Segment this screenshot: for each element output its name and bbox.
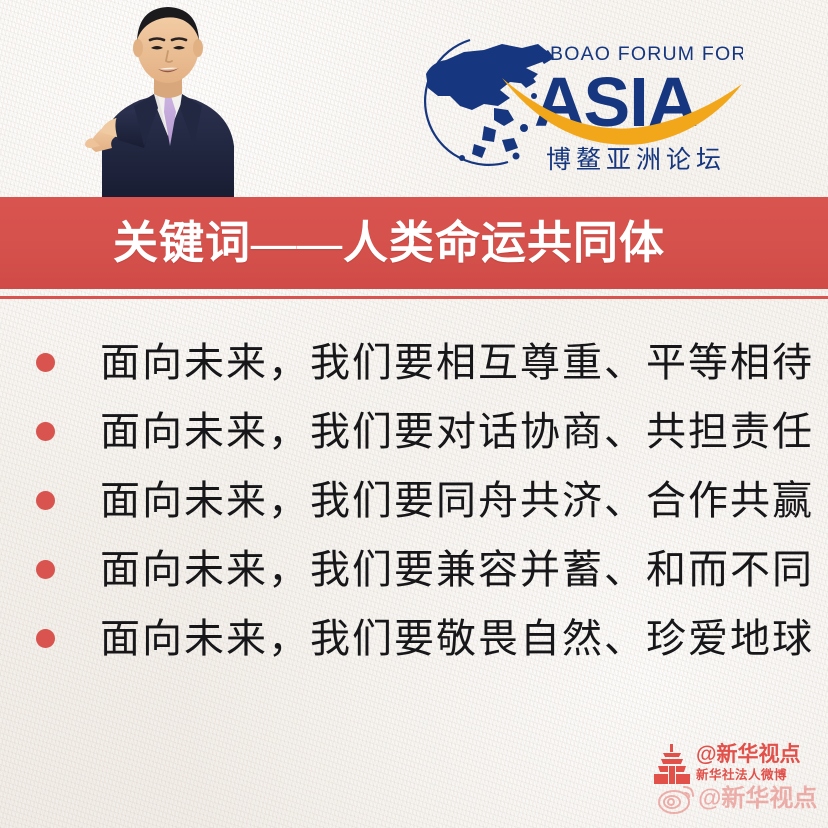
list-item-label: 面向未来，我们要同舟共济、合作共赢 <box>100 478 814 524</box>
bullet-dot-icon <box>36 629 55 648</box>
pagoda-icon <box>650 742 694 786</box>
watermark-text-block: @新华视点 新华社法人微博 <box>696 742 800 782</box>
header-area: BOAO FORUM FOR ASIA 博鳌亚洲论坛 <box>0 0 828 198</box>
list-item-label: 面向未来，我们要敬畏自然、珍爱地球 <box>100 616 814 662</box>
watermark-ghost: @新华视点 <box>656 782 817 816</box>
list-item: 面向未来，我们要兼容并蓄、和而不同 <box>0 537 828 602</box>
watermark: @新华视点 新华社法人微博 @新华视点 <box>650 742 828 828</box>
list-item: 面向未来，我们要对话协商、共担责任 <box>0 399 828 464</box>
logo-english-line1: BOAO FORUM FOR <box>550 43 743 65</box>
list-item: 面向未来，我们要敬畏自然、珍爱地球 <box>0 606 828 671</box>
list-item-label: 面向未来，我们要对话协商、共担责任 <box>100 409 814 455</box>
bullet-dot-icon <box>36 422 55 441</box>
watermark-account-name: @新华视点 <box>696 744 800 765</box>
logo-chinese-label: 博鳌亚洲论坛 <box>546 146 726 174</box>
speaker-portrait <box>82 0 254 198</box>
boao-forum-logo: BOAO FORUM FOR ASIA 博鳌亚洲论坛 <box>398 22 743 174</box>
weibo-eye-icon <box>656 782 696 816</box>
title-banner: 关键词——人类命运共同体 <box>0 197 828 289</box>
list-item: 面向未来，我们要相互尊重、平等相待 <box>0 330 828 395</box>
bullet-dot-icon <box>36 491 55 510</box>
banner-underline-rule <box>0 296 828 299</box>
poster-root: BOAO FORUM FOR ASIA 博鳌亚洲论坛 关键词——人类命运共同体 … <box>0 0 828 828</box>
bullet-dot-icon <box>36 353 55 372</box>
list-item-label: 面向未来，我们要兼容并蓄、和而不同 <box>100 547 814 593</box>
watermark-ghost-label: @新华视点 <box>698 787 817 811</box>
watermark-subtitle: 新华社法人微博 <box>696 769 800 782</box>
bullet-dot-icon <box>36 560 55 579</box>
list-item-label: 面向未来，我们要相互尊重、平等相待 <box>100 340 814 386</box>
page-title: 关键词——人类命运共同体 <box>113 221 665 266</box>
keyword-bullet-list: 面向未来，我们要相互尊重、平等相待 面向未来，我们要对话协商、共担责任 面向未来… <box>0 330 828 675</box>
list-item: 面向未来，我们要同舟共济、合作共赢 <box>0 468 828 533</box>
